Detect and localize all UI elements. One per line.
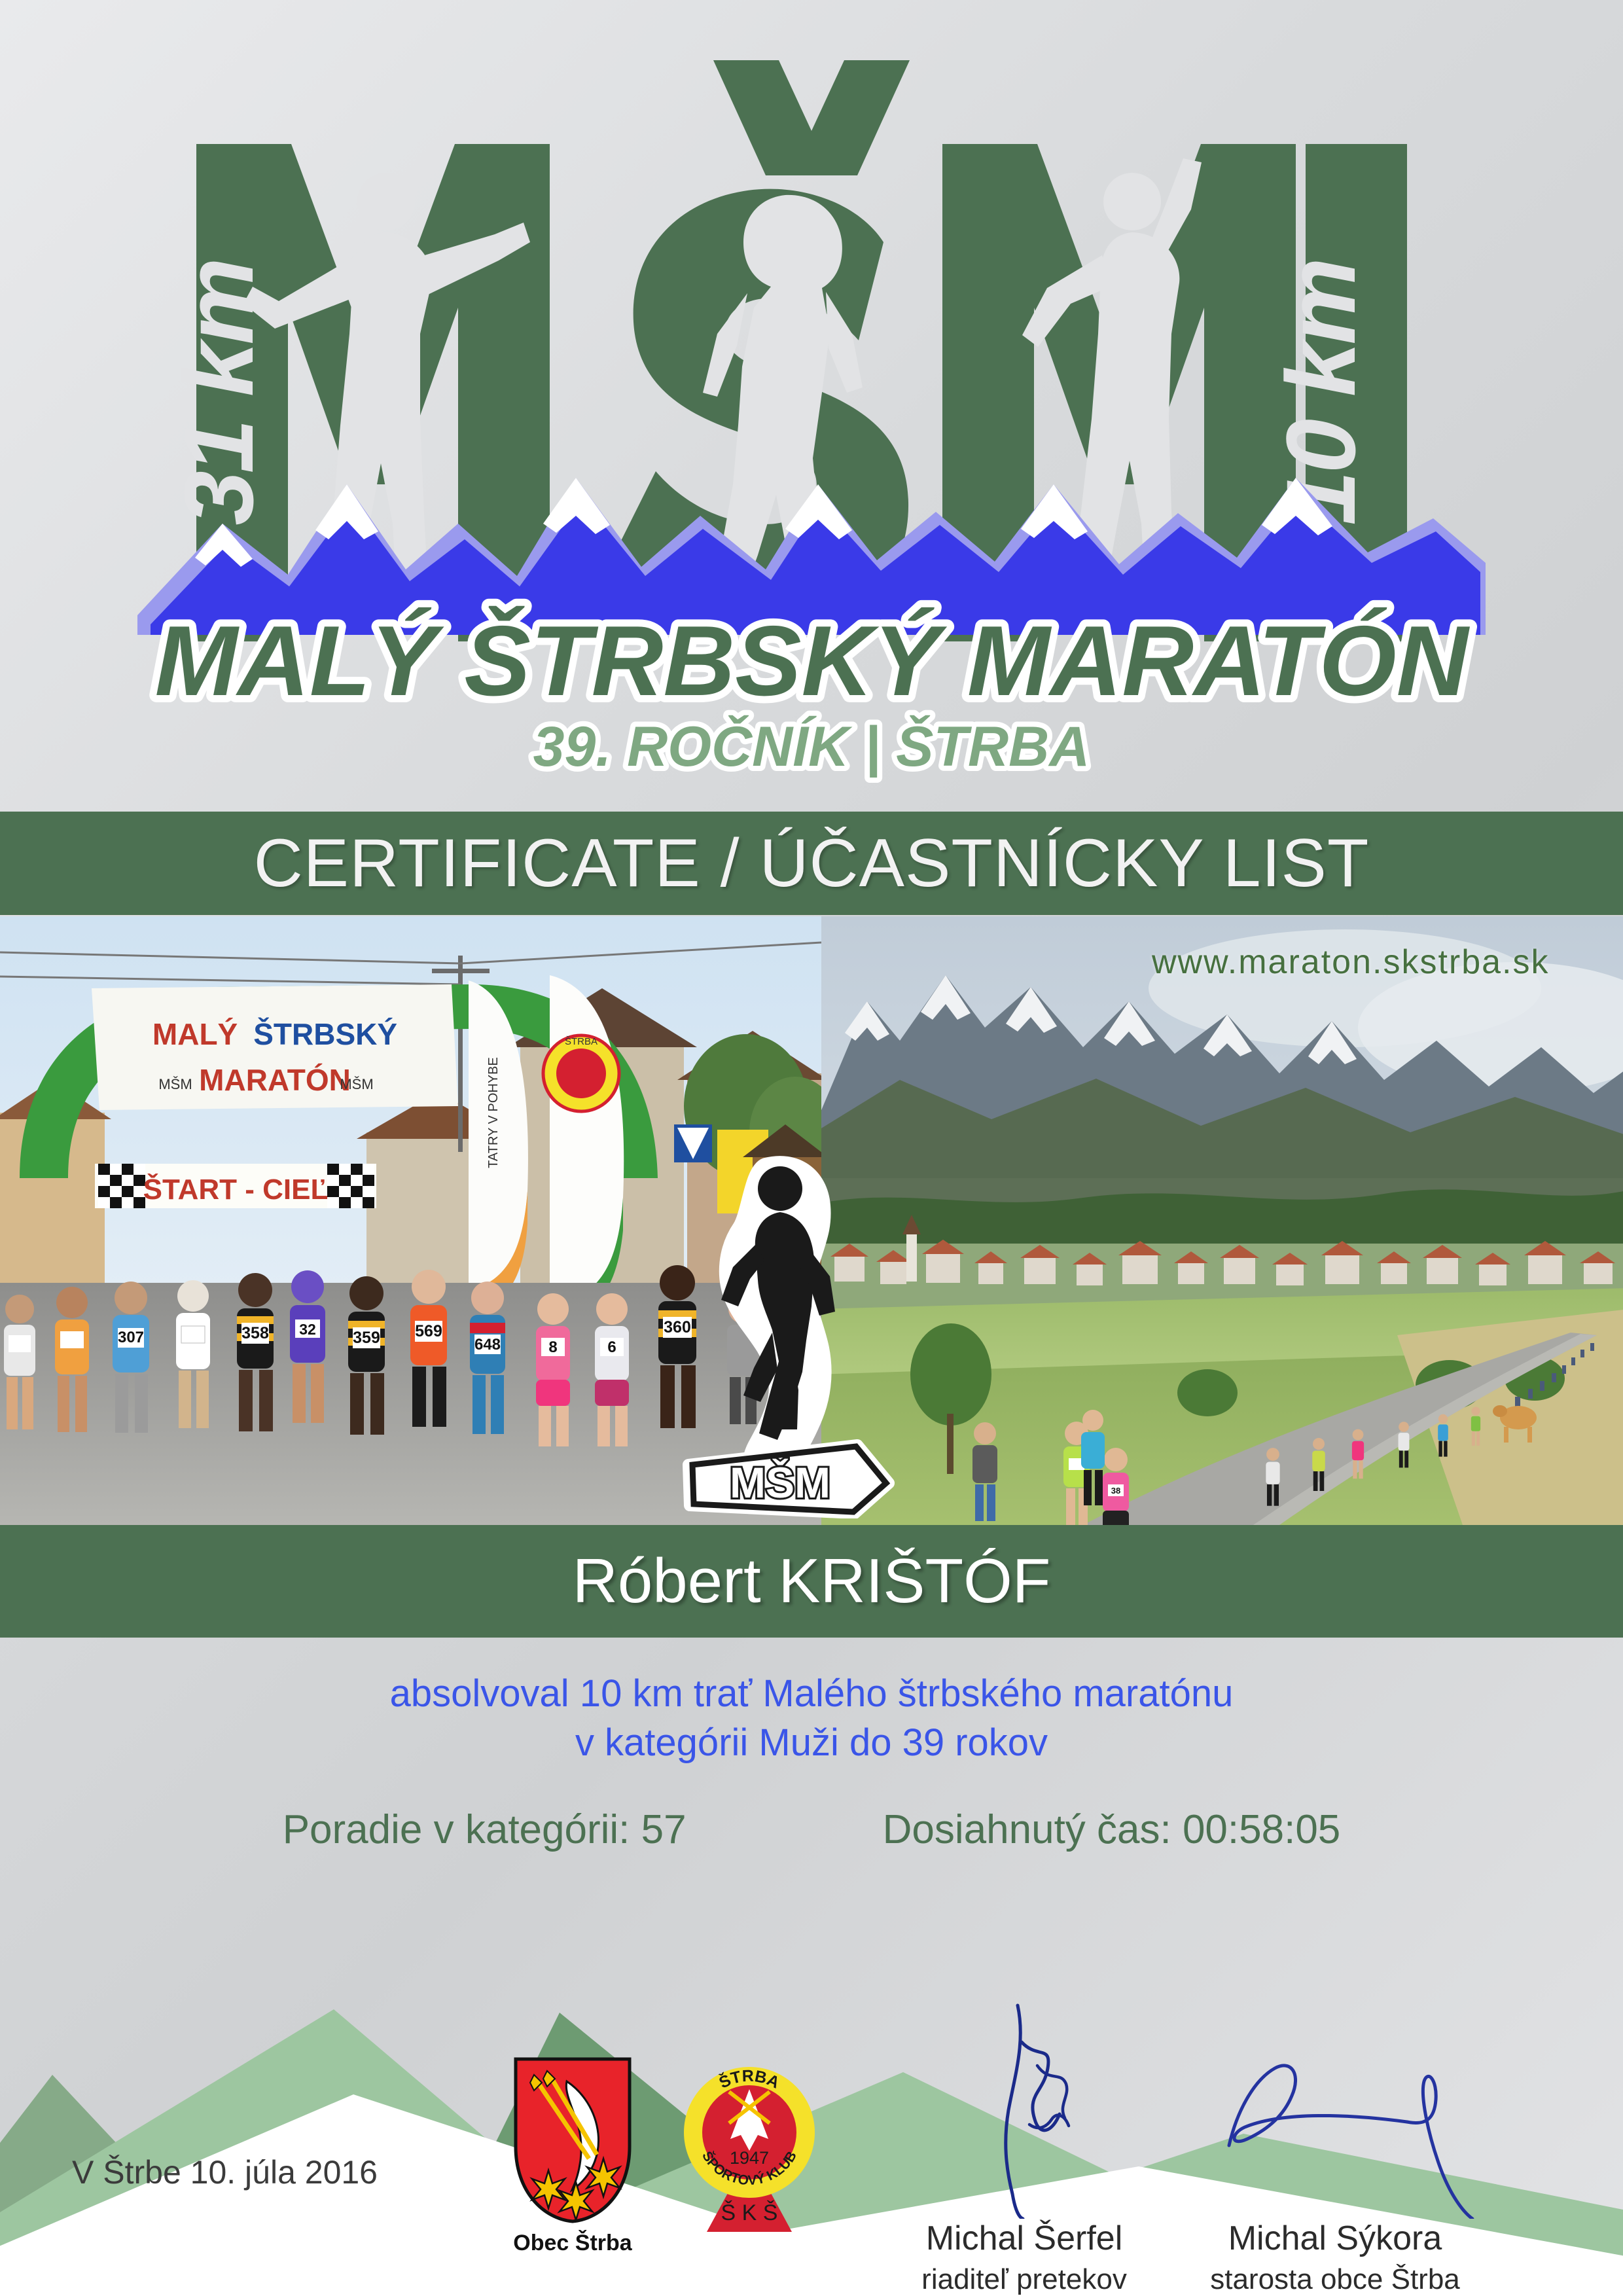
bib-number: 6: [607, 1338, 616, 1356]
arch-line2: MARATÓN: [199, 1063, 351, 1097]
photo-strip: MALÝŠTRBSKÝ MARATÓN MŠM MŠM: [0, 916, 1623, 1525]
signature-name-mayor: Michal Sýkora: [1132, 2219, 1538, 2258]
msm-sticker-runner: [721, 1164, 835, 1482]
bib-number: 38: [1111, 1486, 1120, 1496]
signature-mayor: [1132, 2003, 1538, 2219]
flag-text-left: TATRY V POHYBE: [486, 1057, 501, 1168]
header-logo-area: 31 km: [0, 0, 1623, 812]
svg-text:10 km: 10 km: [1266, 260, 1376, 525]
arch-line1: MALÝŠTRBSKÝ: [152, 1017, 397, 1051]
certificate-title: CERTIFICATE / ÚČASTNÍCKY LIST: [0, 812, 1623, 915]
msm-sticker-wordmark: MŠM: [688, 1445, 889, 1513]
event-title: MALÝ ŠTRBSKÝ MARATÓN: [155, 605, 1471, 717]
event-subtitle: 39. ROČNÍK | ŠTRBA: [533, 715, 1090, 778]
bib-number: 359: [353, 1329, 380, 1347]
rank-label: Poradie v kategórii: 57: [283, 1806, 687, 1853]
crest-sks-year: 1947: [730, 2148, 769, 2168]
photo-landscape-svg: 38: [821, 916, 1623, 1525]
msm-logo: 31 km: [0, 26, 1623, 779]
result-row: Poradie v kategórii: 57 Dosiahnutý čas: …: [0, 1806, 1623, 1853]
flag-logo-text: ŠTRBA: [565, 1036, 597, 1047]
distance-right-text: 10 km: [1266, 260, 1376, 525]
arch-banner-text: ŠTART - CIEĽ: [143, 1172, 329, 1206]
photo-landscape: 38: [821, 916, 1623, 1525]
bib-number: 648: [474, 1336, 501, 1354]
msm-sticker-text: MŠM: [730, 1458, 830, 1507]
crest-obec-caption: Obec Štrba: [504, 2231, 641, 2256]
issue-date: V Štrbe 10. júla 2016: [72, 2153, 378, 2191]
signature-role-mayor: starosta obce Štrba: [1132, 2263, 1538, 2296]
bib-number: 569: [415, 1322, 442, 1340]
description-line-2: v kategórii Muži do 39 rokov: [0, 1718, 1623, 1767]
participant-name-band: Róbert KRIŠTÓF: [0, 1525, 1623, 1638]
msm-logo-svg: 31 km: [124, 26, 1499, 785]
bib-number: 358: [241, 1324, 269, 1342]
logo-event-title-group: MALÝ ŠTRBSKÝ MARATÓN 39. ROČNÍK | ŠTRBA: [155, 605, 1471, 778]
description-line-1: absolvoval 10 km trať Malého štrbského m…: [0, 1669, 1623, 1718]
msm-sticker: MŠM: [681, 1152, 897, 1518]
participant-details: absolvoval 10 km trať Malého štrbského m…: [0, 1638, 1623, 1912]
certificate-page: 31 km: [0, 0, 1623, 2296]
crest-sks-abbrev: Š K Š: [721, 2200, 778, 2225]
bib-number: 307: [118, 1329, 144, 1346]
bib-number: 32: [299, 1321, 316, 1338]
arch-logo-right: MŠM: [340, 1076, 373, 1092]
arch-logo-left: MŠM: [158, 1076, 192, 1092]
website-url: www.maraton.skstrba.sk: [1152, 942, 1550, 982]
time-label: Dosiahnutý čas: 00:58:05: [883, 1806, 1341, 1853]
crest-obec-strba: Obec Štrba: [504, 2055, 641, 2271]
crest-sks: 1947 ŠTRBA ŠPORTOVÝ KLUB Š K Š: [674, 2055, 825, 2271]
bib-number: 8: [548, 1338, 557, 1356]
crest-obec-strba-svg: [504, 2055, 641, 2225]
participant-name: Róbert KRIŠTÓF: [0, 1525, 1623, 1638]
certificate-title-bar: CERTIFICATE / ÚČASTNÍCKY LIST: [0, 812, 1623, 915]
crest-sks-svg: 1947 ŠTRBA ŠPORTOVÝ KLUB Š K Š: [674, 2055, 825, 2251]
